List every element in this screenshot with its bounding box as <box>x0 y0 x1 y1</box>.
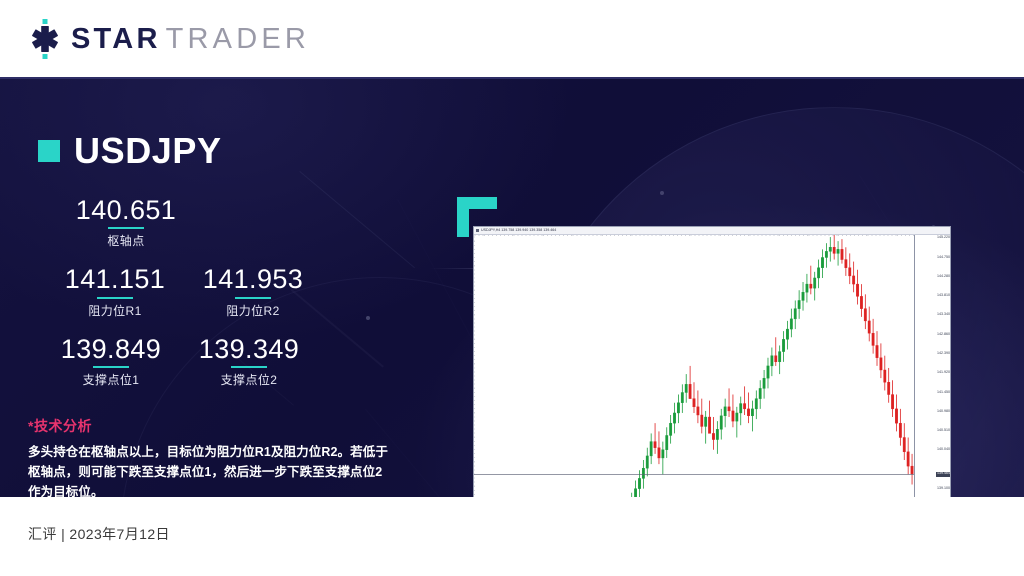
chart-plot-area <box>474 235 914 497</box>
current-price-tag: 139.464 <box>936 472 951 477</box>
levels-group: 140.651 枢轴点 141.151 阻力位R1 141.953 阻力位R <box>38 196 438 388</box>
resistance-1: 141.151 阻力位R1 <box>56 265 174 318</box>
accent-underline <box>231 366 267 368</box>
price-tick: 143.810 <box>937 294 950 298</box>
analysis-title: *技术分析 <box>28 416 438 436</box>
price-tick: 143.340 <box>937 313 950 317</box>
last-price-line <box>474 474 914 475</box>
support-1: 139.849 支撑点位1 <box>46 335 176 388</box>
support-2-value: 139.349 <box>184 335 314 363</box>
price-axis[interactable]: 145.220144.750144.280143.810143.340142.8… <box>914 235 951 497</box>
price-tick: 140.510 <box>937 429 950 433</box>
resistance-2-label: 阻力位R2 <box>194 302 312 319</box>
background-dot <box>660 191 664 195</box>
analysis-block: *技术分析 多头持仓在枢轴点以上，目标位为阻力位R1及阻力位R2。若低于枢轴点，… <box>28 416 438 497</box>
price-tick: 141.450 <box>937 391 950 395</box>
candlestick-series <box>474 235 914 497</box>
price-tick: 144.750 <box>937 256 950 260</box>
chart-body: 145.220144.750144.280143.810143.340142.8… <box>474 235 951 497</box>
footer-caption: 汇评 | 2023年7月12日 <box>28 524 170 544</box>
brand-name-light: TRADER <box>166 23 310 56</box>
main-stage: USDJPY 140.651 枢轴点 141.151 阻力位R1 <box>0 79 1024 497</box>
info-panel: USDJPY 140.651 枢轴点 141.151 阻力位R1 <box>38 130 438 497</box>
brand-logo[interactable]: STAR TRADER <box>28 19 310 59</box>
resistance-2: 141.953 阻力位R2 <box>194 265 312 318</box>
support-2: 139.349 支撑点位2 <box>184 335 314 388</box>
price-tick: 140.040 <box>937 448 950 452</box>
price-tick: 144.280 <box>937 275 950 279</box>
accent-underline <box>108 227 144 229</box>
resistance-1-value: 141.151 <box>56 265 174 293</box>
accent-underline <box>93 366 129 368</box>
support-1-value: 139.849 <box>46 335 176 363</box>
price-tick: 142.390 <box>937 352 950 356</box>
pair-heading: USDJPY <box>38 130 438 172</box>
analysis-body: 多头持仓在枢轴点以上，目标位为阻力位R1及阻力位R2。若低于枢轴点，则可能下跌至… <box>28 443 390 497</box>
pivot-value: 140.651 <box>56 196 196 224</box>
brand-name-bold: STAR <box>71 23 161 56</box>
window-icon <box>476 229 479 232</box>
chart-titlebar-text: USDJPY,H4 139.758 139.940 139.358 139.46… <box>481 229 556 233</box>
header-bar: STAR TRADER <box>0 0 1024 78</box>
price-tick: 140.980 <box>937 410 950 414</box>
price-tick: 139.100 <box>937 487 950 491</box>
accent-underline <box>97 297 133 299</box>
page-title: USDJPY <box>74 130 222 172</box>
resistance-2-value: 141.953 <box>194 265 312 293</box>
support-row: 139.849 支撑点位1 139.349 支撑点位2 <box>46 335 438 388</box>
pivot-label: 枢轴点 <box>56 232 196 249</box>
footer-bar: 汇评 | 2023年7月12日 <box>0 497 1024 576</box>
price-tick: 145.220 <box>937 236 950 240</box>
resistance-1-label: 阻力位R1 <box>56 302 174 319</box>
poster-canvas: STAR TRADER USDJPY <box>0 0 1024 576</box>
support-1-label: 支撑点位1 <box>46 371 176 388</box>
resistance-row: 141.151 阻力位R1 141.953 阻力位R2 <box>56 265 438 318</box>
square-bullet-icon <box>38 140 60 162</box>
price-tick: 141.920 <box>937 371 950 375</box>
support-2-label: 支撑点位2 <box>184 371 314 388</box>
price-tick: 142.860 <box>937 333 950 337</box>
chart-titlebar: USDJPY,H4 139.758 139.940 139.358 139.46… <box>474 227 950 235</box>
chart-window[interactable]: USDJPY,H4 139.758 139.940 139.358 139.46… <box>473 226 951 497</box>
accent-underline <box>235 297 271 299</box>
pivot-level: 140.651 枢轴点 <box>56 196 196 249</box>
star-asterisk-icon <box>28 19 62 59</box>
